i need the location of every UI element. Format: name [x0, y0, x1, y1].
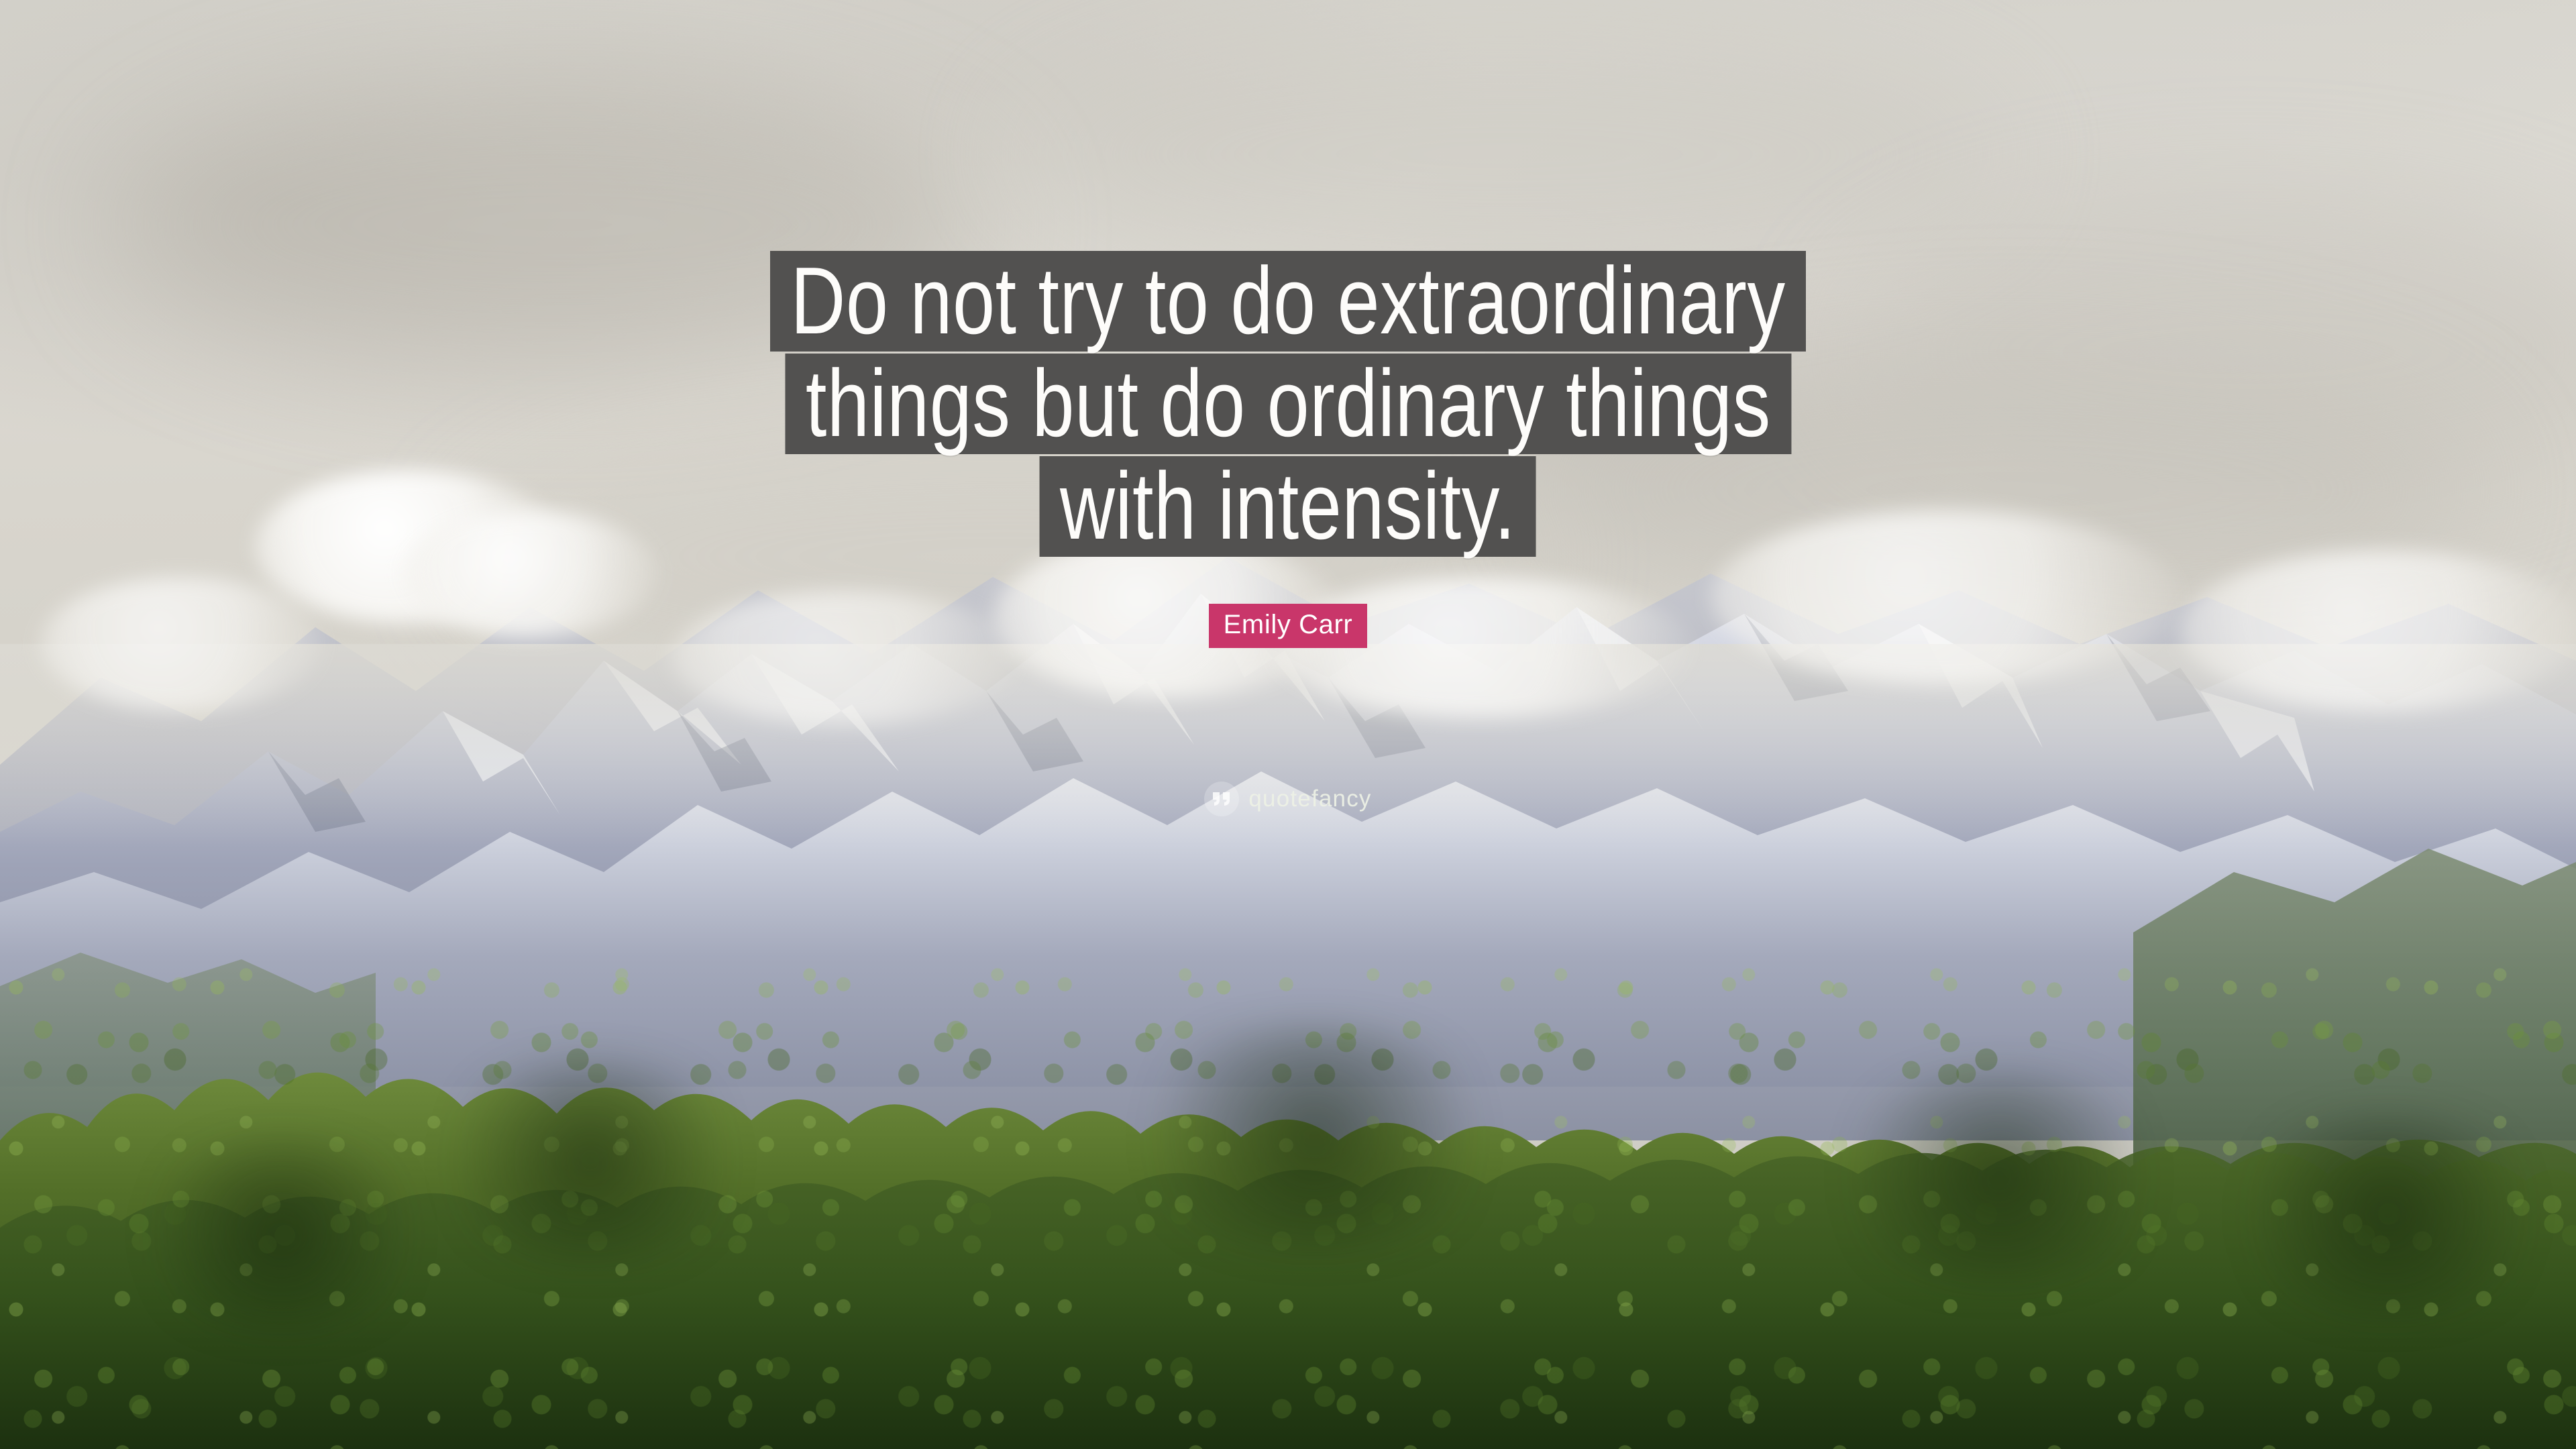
- quote-line-2: things but do ordinary things: [785, 354, 1791, 454]
- quotefancy-watermark[interactable]: quotefancy: [0, 782, 2576, 816]
- quotation-mark-icon: [1204, 782, 1239, 816]
- author-name: Emily Carr: [1209, 604, 1368, 648]
- author-badge: Emily Carr: [0, 604, 2576, 648]
- quote-text-block: Do not try to do extraordinary things bu…: [0, 251, 2576, 559]
- quote-line-3: with intensity.: [1040, 456, 1536, 557]
- quote-line-1: Do not try to do extraordinary: [770, 251, 1806, 352]
- quote-overlay: Do not try to do extraordinary things bu…: [0, 0, 2576, 1449]
- quotefancy-brand-label: quotefancy: [1248, 786, 1371, 812]
